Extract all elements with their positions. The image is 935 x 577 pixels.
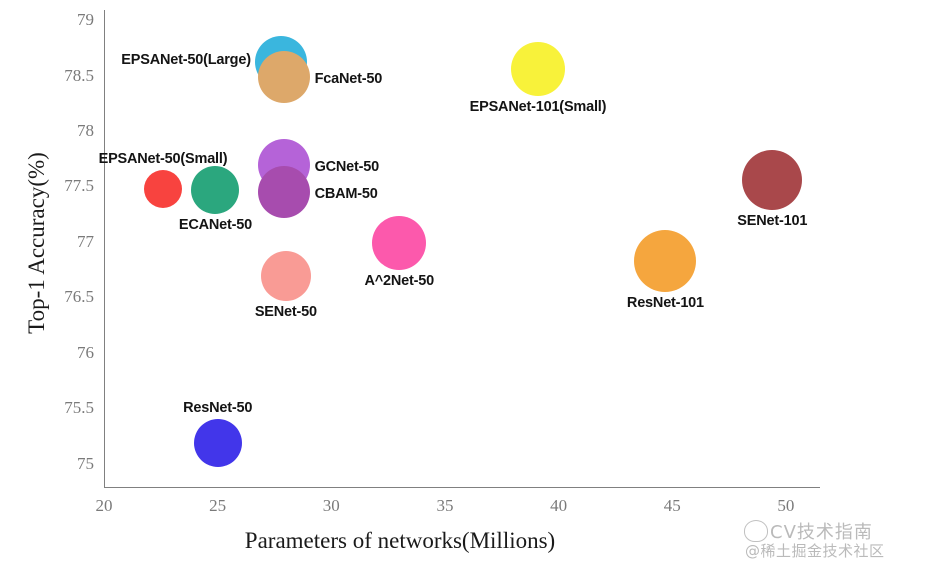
bubble-a2net-50[interactable] bbox=[372, 216, 426, 270]
watermark-sub-text: @稀土掘金技术社区 bbox=[745, 540, 885, 561]
watermark: CV技术指南 @稀土掘金技术社区 bbox=[742, 518, 932, 570]
bubble-epsanet-101small[interactable] bbox=[511, 42, 565, 96]
bubble-resnet-50[interactable] bbox=[194, 419, 242, 467]
bubble-cbam-50[interactable] bbox=[258, 166, 310, 218]
point-label: EPSANet-50(Large) bbox=[121, 52, 251, 68]
x-axis-title: Parameters of networks(Millions) bbox=[0, 528, 800, 554]
x-tick-label: 50 bbox=[763, 496, 809, 516]
y-tick-label: 76 bbox=[48, 343, 94, 363]
point-label: GCNet-50 bbox=[315, 159, 379, 175]
x-axis-line bbox=[104, 487, 820, 488]
point-label: ResNet-101 bbox=[627, 295, 704, 311]
point-label: FcaNet-50 bbox=[315, 71, 383, 87]
bubble-senet-50[interactable] bbox=[261, 251, 311, 301]
point-label: A^2Net-50 bbox=[364, 273, 434, 289]
x-tick-label: 30 bbox=[308, 496, 354, 516]
bubble-ecanet-50[interactable] bbox=[191, 166, 239, 214]
y-tick-label: 78 bbox=[48, 121, 94, 141]
x-tick-label: 45 bbox=[649, 496, 695, 516]
bubble-resnet-101[interactable] bbox=[634, 230, 696, 292]
bubble-epsanet-50small[interactable] bbox=[144, 170, 182, 208]
watermark-logo-icon bbox=[744, 520, 768, 542]
bubble-senet-101[interactable] bbox=[742, 150, 802, 210]
point-label: SENet-50 bbox=[255, 304, 317, 320]
y-tick-label: 75.5 bbox=[48, 398, 94, 418]
y-tick-label: 77.5 bbox=[48, 176, 94, 196]
point-label: SENet-101 bbox=[737, 213, 807, 229]
point-label: ResNet-50 bbox=[183, 400, 252, 416]
point-label: EPSANet-50(Small) bbox=[99, 151, 228, 167]
x-tick-label: 25 bbox=[195, 496, 241, 516]
point-label: ECANet-50 bbox=[179, 217, 252, 233]
y-tick-label: 76.5 bbox=[48, 287, 94, 307]
bubble-chart: 7575.57676.57777.57878.579 2025303540455… bbox=[0, 0, 935, 577]
point-label: CBAM-50 bbox=[315, 186, 378, 202]
y-axis-line bbox=[104, 10, 105, 487]
y-tick-label: 77 bbox=[48, 232, 94, 252]
x-tick-label: 35 bbox=[422, 496, 468, 516]
x-tick-label: 40 bbox=[536, 496, 582, 516]
x-tick-label: 20 bbox=[81, 496, 127, 516]
y-tick-label: 79 bbox=[48, 10, 94, 30]
y-axis-title: Top-1 Accuracy(%) bbox=[24, 128, 50, 358]
point-label: EPSANet-101(Small) bbox=[470, 99, 607, 115]
bubble-fcanet-50[interactable] bbox=[258, 51, 310, 103]
y-tick-label: 78.5 bbox=[48, 66, 94, 86]
y-tick-label: 75 bbox=[48, 454, 94, 474]
